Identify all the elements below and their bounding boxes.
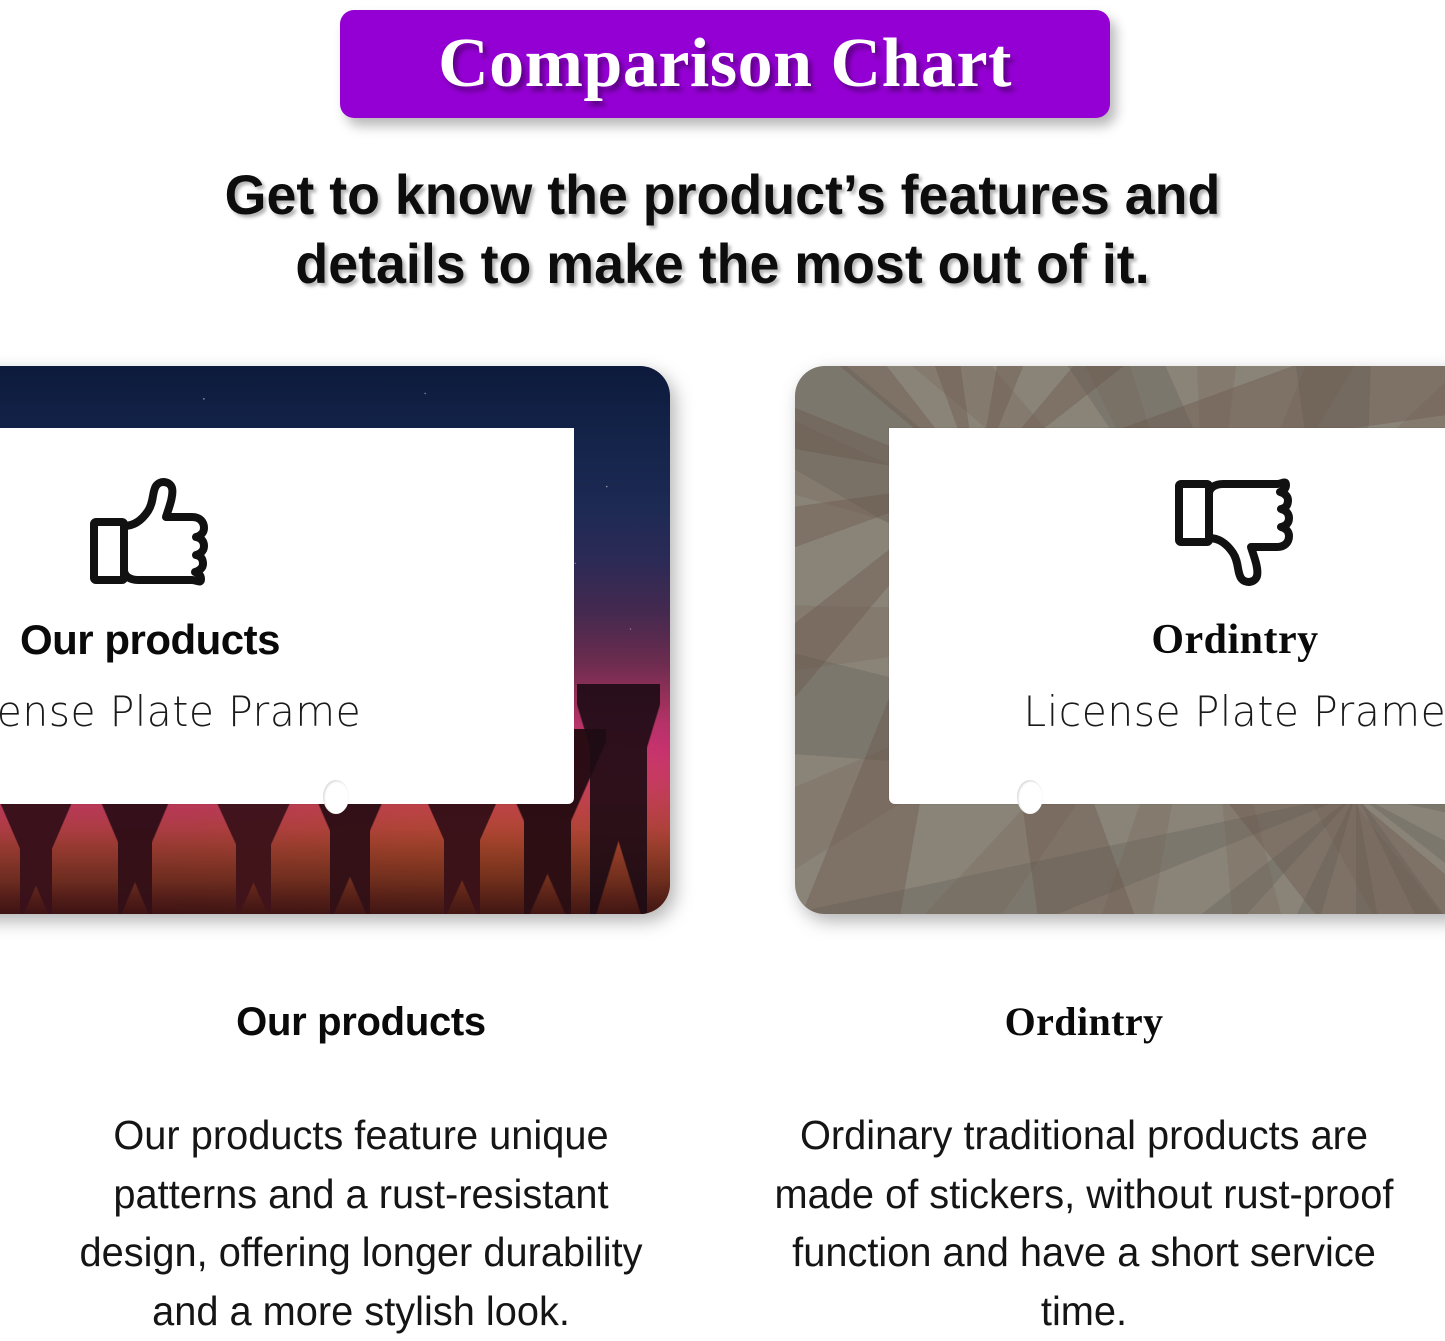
license-plate-frame-ordinary: Ordintry License Plate Prame [795, 366, 1445, 914]
page-subtitle: Get to know the product’s features and d… [29, 160, 1416, 299]
plate-content-left: Our products License Plate Prame [0, 476, 420, 733]
page-title: Comparison Chart [438, 29, 1012, 99]
description-body-right: Ordinary traditional products are made o… [774, 1106, 1395, 1341]
mounting-hole-left [323, 780, 349, 814]
description-body-left: Our products feature unique patterns and… [51, 1106, 672, 1341]
frames-comparison-row: Our products License Plate Prame Ordintr… [0, 366, 1445, 922]
descriptions-row: Our products Our products feature unique… [0, 940, 1445, 1314]
plate-chamfer-right [889, 428, 981, 476]
description-title-right: Ordintry [723, 1002, 1445, 1042]
plate-heading-left: Our products [20, 619, 280, 661]
subtitle-line-2: details to make the most out of it. [29, 229, 1416, 298]
subtitle-line-1: Get to know the product’s features and [29, 160, 1416, 229]
plate-subheading-left: License Plate Prame [0, 691, 361, 733]
plate-heading-right: Ordintry [1151, 619, 1318, 661]
thumbs-up-icon [88, 476, 212, 593]
plate-content-right: Ordintry License Plate Prame [965, 476, 1445, 733]
description-column-ordinary: Ordintry Ordinary traditional products a… [723, 940, 1445, 1341]
plate-chamfer-left [482, 428, 574, 476]
description-title-left: Our products [0, 1002, 722, 1042]
license-plate-frame-our-product: Our products License Plate Prame [0, 366, 670, 914]
mounting-hole-right [1017, 780, 1043, 814]
tree-silhouettes-right [574, 546, 670, 914]
description-column-our-product: Our products Our products feature unique… [0, 940, 722, 1341]
title-banner: Comparison Chart [340, 10, 1110, 118]
thumbs-down-icon [1173, 476, 1297, 593]
plate-subheading-right: License Plate Prame [1024, 691, 1445, 733]
